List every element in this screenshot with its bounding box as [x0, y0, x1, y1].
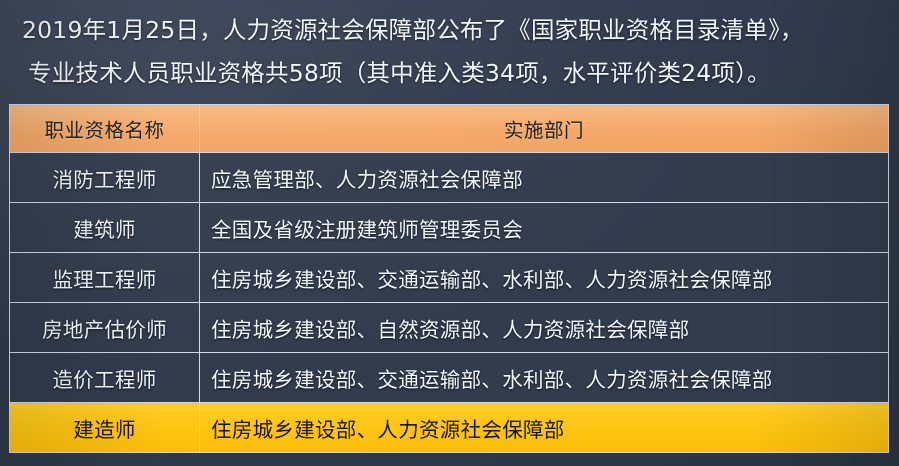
table-row[interactable]: 建筑师全国及省级注册建筑师管理委员会: [10, 203, 889, 253]
cell-qualification-name: 建筑师: [10, 203, 200, 253]
cell-qualification-name: 造价工程师: [10, 353, 200, 403]
table-header: 职业资格名称 实施部门: [10, 105, 889, 153]
table-row[interactable]: 建造师住房城乡建设部、人力资源社会保障部: [10, 403, 889, 453]
cell-qualification-name: 房地产估价师: [10, 303, 200, 353]
cell-implementing-department: 住房城乡建设部、交通运输部、水利部、人力资源社会保障部: [200, 353, 889, 403]
cell-qualification-name: 建造师: [10, 403, 200, 453]
table-row[interactable]: 造价工程师住房城乡建设部、交通运输部、水利部、人力资源社会保障部: [10, 353, 889, 403]
table-row[interactable]: 消防工程师应急管理部、人力资源社会保障部: [10, 153, 889, 203]
slide-root: 2019年1月25日，人力资源社会保障部公布了《国家职业资格目录清单》， 专业技…: [0, 0, 899, 466]
cell-implementing-department: 住房城乡建设部、人力资源社会保障部: [200, 403, 889, 453]
table-row[interactable]: 房地产估价师住房城乡建设部、自然资源部、人力资源社会保障部: [10, 303, 889, 353]
heading-block: 2019年1月25日，人力资源社会保障部公布了《国家职业资格目录清单》， 专业技…: [0, 0, 899, 95]
cell-implementing-department: 住房城乡建设部、交通运输部、水利部、人力资源社会保障部: [200, 253, 889, 303]
cell-implementing-department: 应急管理部、人力资源社会保障部: [200, 153, 889, 203]
cell-qualification-name: 消防工程师: [10, 153, 200, 203]
heading-line-2: 专业技术人员职业资格共58项（其中准入类34项，水平评价类24项）。: [22, 52, 881, 95]
table-header-row: 职业资格名称 实施部门: [10, 105, 889, 153]
cell-qualification-name: 监理工程师: [10, 253, 200, 303]
column-header-name: 职业资格名称: [10, 105, 200, 153]
cell-implementing-department: 住房城乡建设部、自然资源部、人力资源社会保障部: [200, 303, 889, 353]
qualification-table: 职业资格名称 实施部门 消防工程师应急管理部、人力资源社会保障部建筑师全国及省级…: [9, 104, 889, 453]
qualification-table-container: 职业资格名称 实施部门 消防工程师应急管理部、人力资源社会保障部建筑师全国及省级…: [9, 104, 889, 453]
heading-line-1: 2019年1月25日，人力资源社会保障部公布了《国家职业资格目录清单》，: [22, 9, 881, 52]
table-body: 消防工程师应急管理部、人力资源社会保障部建筑师全国及省级注册建筑师管理委员会监理…: [10, 153, 889, 453]
table-row[interactable]: 监理工程师住房城乡建设部、交通运输部、水利部、人力资源社会保障部: [10, 253, 889, 303]
cell-implementing-department: 全国及省级注册建筑师管理委员会: [200, 203, 889, 253]
column-header-department: 实施部门: [200, 105, 889, 153]
